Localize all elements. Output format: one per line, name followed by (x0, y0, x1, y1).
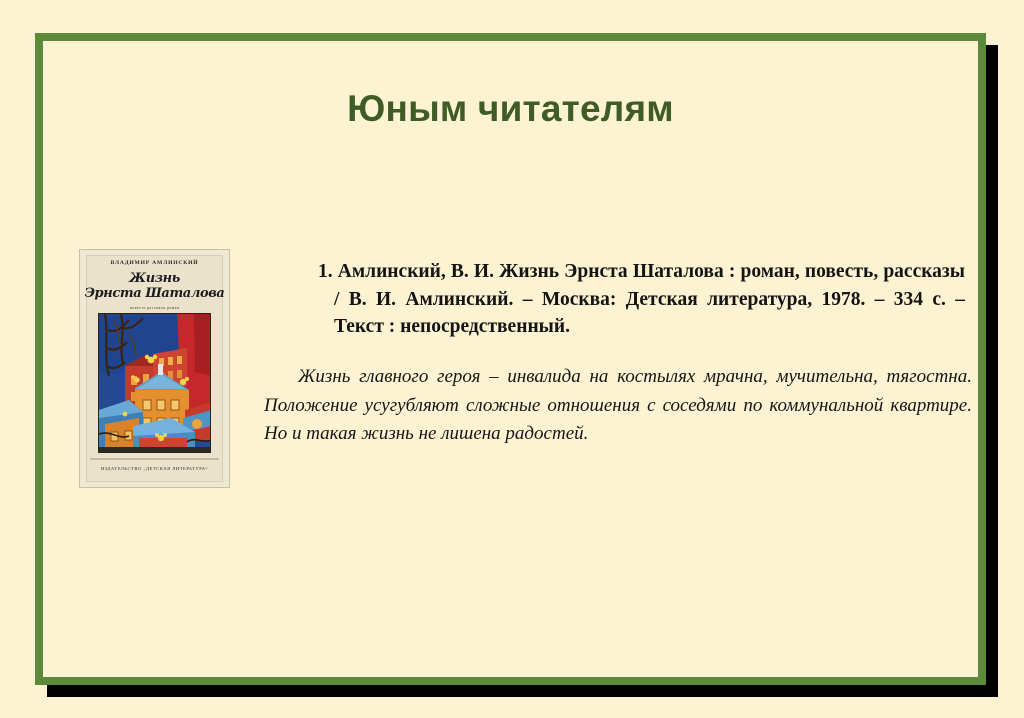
book-cover-rule (90, 458, 219, 460)
book-annotation: Жизнь главного героя – инвалида на косты… (264, 363, 972, 449)
book-cover-title: Жизнь Эрнста Шаталова (80, 272, 229, 301)
page-title: Юным читателям (35, 88, 986, 130)
book-cover-author: ВЛАДИМИР АМЛИНСКИЙ (80, 260, 229, 266)
cityscape-illustration (99, 314, 211, 453)
book-cover-image: ВЛАДИМИР АМЛИНСКИЙ Жизнь Эрнста Шаталова… (79, 249, 230, 488)
bibliography-entry: 1. Амлинский, В. И. Жизнь Эрнста Шаталов… (318, 258, 965, 341)
book-cover-artwork (98, 313, 211, 453)
book-cover-title-line2: Эрнста Шаталова (80, 287, 229, 302)
book-cover-publisher: ИЗДАТЕЛЬСТВО „ДЕТСКАЯ ЛИТЕРАТУРА“ (80, 466, 229, 471)
book-cover-subtitle: повесть рассказы роман (80, 305, 229, 310)
slide: Юным читателям ВЛАДИМИР АМЛИНСКИЙ Жизнь … (0, 0, 1024, 718)
book-cover-title-line1: Жизнь (80, 272, 229, 287)
